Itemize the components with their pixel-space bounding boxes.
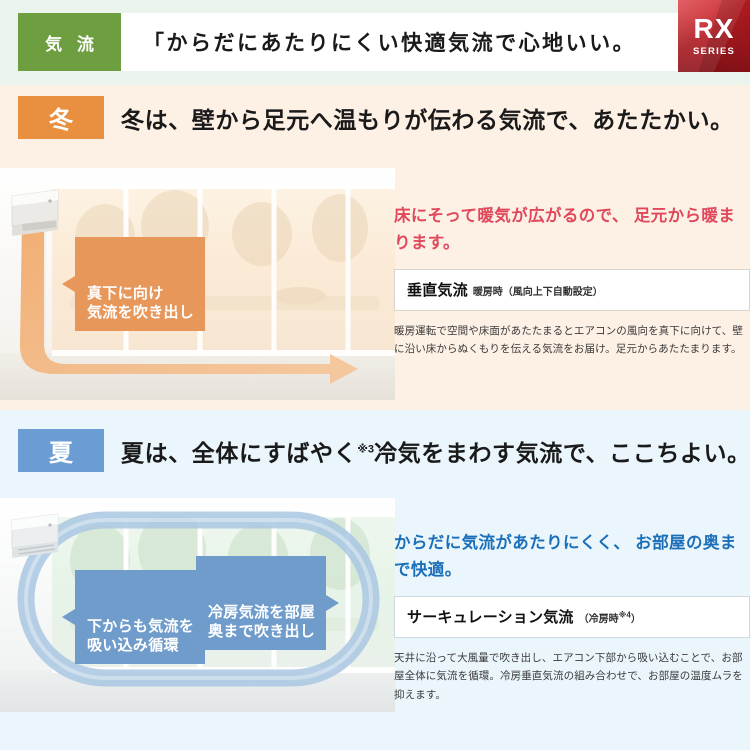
rx-series-badge: RX SERIES xyxy=(678,0,750,72)
summer-title-part2: 冷気をまわす気流で、ここちよい。 xyxy=(374,440,750,466)
summer-spec-note-part1: （冷房時 xyxy=(579,614,619,625)
season-badge-winter: 冬 xyxy=(18,96,104,139)
winter-section-header: 冬 冬は、壁から足元へ温もりが伝わる気流で、あたたかい。 xyxy=(18,96,734,139)
summer-title-part1: 夏は、全体にすばやく xyxy=(121,440,357,466)
summer-callout-blow-label: 冷房気流を部屋 奥まで吹き出し xyxy=(208,604,315,641)
summer-spec-note: （冷房時※4） xyxy=(579,610,641,625)
winter-callout-blow-label: 真下に向け 気流を吹き出し xyxy=(87,285,194,322)
summer-section-header: 夏 夏は、全体にすばやく※3冷気をまわす気流で、ここちよい。 xyxy=(18,429,750,472)
category-badge-label: 気 流 xyxy=(40,30,99,55)
winter-panel-body: 暖房運転で空間や床面があたたまるとエアコンの風向を真下に向けて、壁に沿い床からぬ… xyxy=(394,322,750,358)
season-badge-summer-label: 夏 xyxy=(49,433,73,468)
category-badge-airflow: 気 流 xyxy=(18,13,121,71)
winter-ac-unit xyxy=(12,190,58,236)
page-title: 「からだにあたりにくい快適気流で心地いい。 xyxy=(121,13,732,71)
winter-spec-note: 暖房時（風向上下自動設定） xyxy=(473,283,603,298)
summer-spec-footnote-marker: ※4 xyxy=(619,611,631,620)
page-root: 気 流 「からだにあたりにくい快適気流で心地いい。 RX SERIES 冬 冬は… xyxy=(0,0,750,750)
summer-callout-intake-label: 下からも気流を 吸い込み循環 xyxy=(87,618,194,655)
summer-panel-body: 天井に沿って大風量で吹き出し、エアコン下部から吸い込むことで、お部屋全体に気流を… xyxy=(394,649,750,703)
top-title-bar: 気 流 「からだにあたりにくい快適気流で心地いい。 xyxy=(18,13,732,71)
rx-series-subtitle: SERIES xyxy=(693,46,735,57)
callout-tail-icon xyxy=(62,609,75,625)
summer-spec-title: サーキュレーション気流 xyxy=(407,606,574,627)
summer-info-panel: からだに気流があたりにくく、 お部屋の奥まで快適。 サーキュレーション気流 （冷… xyxy=(394,530,750,704)
summer-panel-heading: からだに気流があたりにくく、 お部屋の奥まで快適。 xyxy=(394,530,750,583)
callout-tail-icon xyxy=(326,595,339,611)
winter-info-panel: 床にそって暖気が広がるので、 足元から暖まります。 垂直気流 暖房時（風向上下自… xyxy=(394,203,750,359)
summer-spec-box: サーキュレーション気流 （冷房時※4） xyxy=(394,596,750,638)
winter-panel-heading: 床にそって暖気が広がるので、 足元から暖まります。 xyxy=(394,203,750,256)
winter-callout-blow: 真下に向け 気流を吹き出し xyxy=(75,237,205,331)
season-badge-winter-label: 冬 xyxy=(49,100,73,135)
summer-section-title: 夏は、全体にすばやく※3冷気をまわす気流で、ここちよい。 xyxy=(121,434,750,468)
rx-series-name: RX xyxy=(694,15,735,43)
winter-spec-box: 垂直気流 暖房時（風向上下自動設定） xyxy=(394,269,750,311)
summer-callout-intake: 下からも気流を 吸い込み循環 xyxy=(75,570,205,664)
summer-title-footnote-marker: ※3 xyxy=(357,443,374,455)
callout-tail-icon xyxy=(62,276,75,292)
winter-section-title: 冬は、壁から足元へ温もりが伝わる気流で、あたたかい。 xyxy=(121,101,734,135)
summer-spec-note-part2: ） xyxy=(631,614,641,625)
season-badge-summer: 夏 xyxy=(18,429,104,472)
summer-callout-blow: 冷房気流を部屋 奥まで吹き出し xyxy=(196,556,326,650)
winter-spec-title: 垂直気流 xyxy=(407,279,468,300)
summer-ac-unit xyxy=(12,514,58,558)
